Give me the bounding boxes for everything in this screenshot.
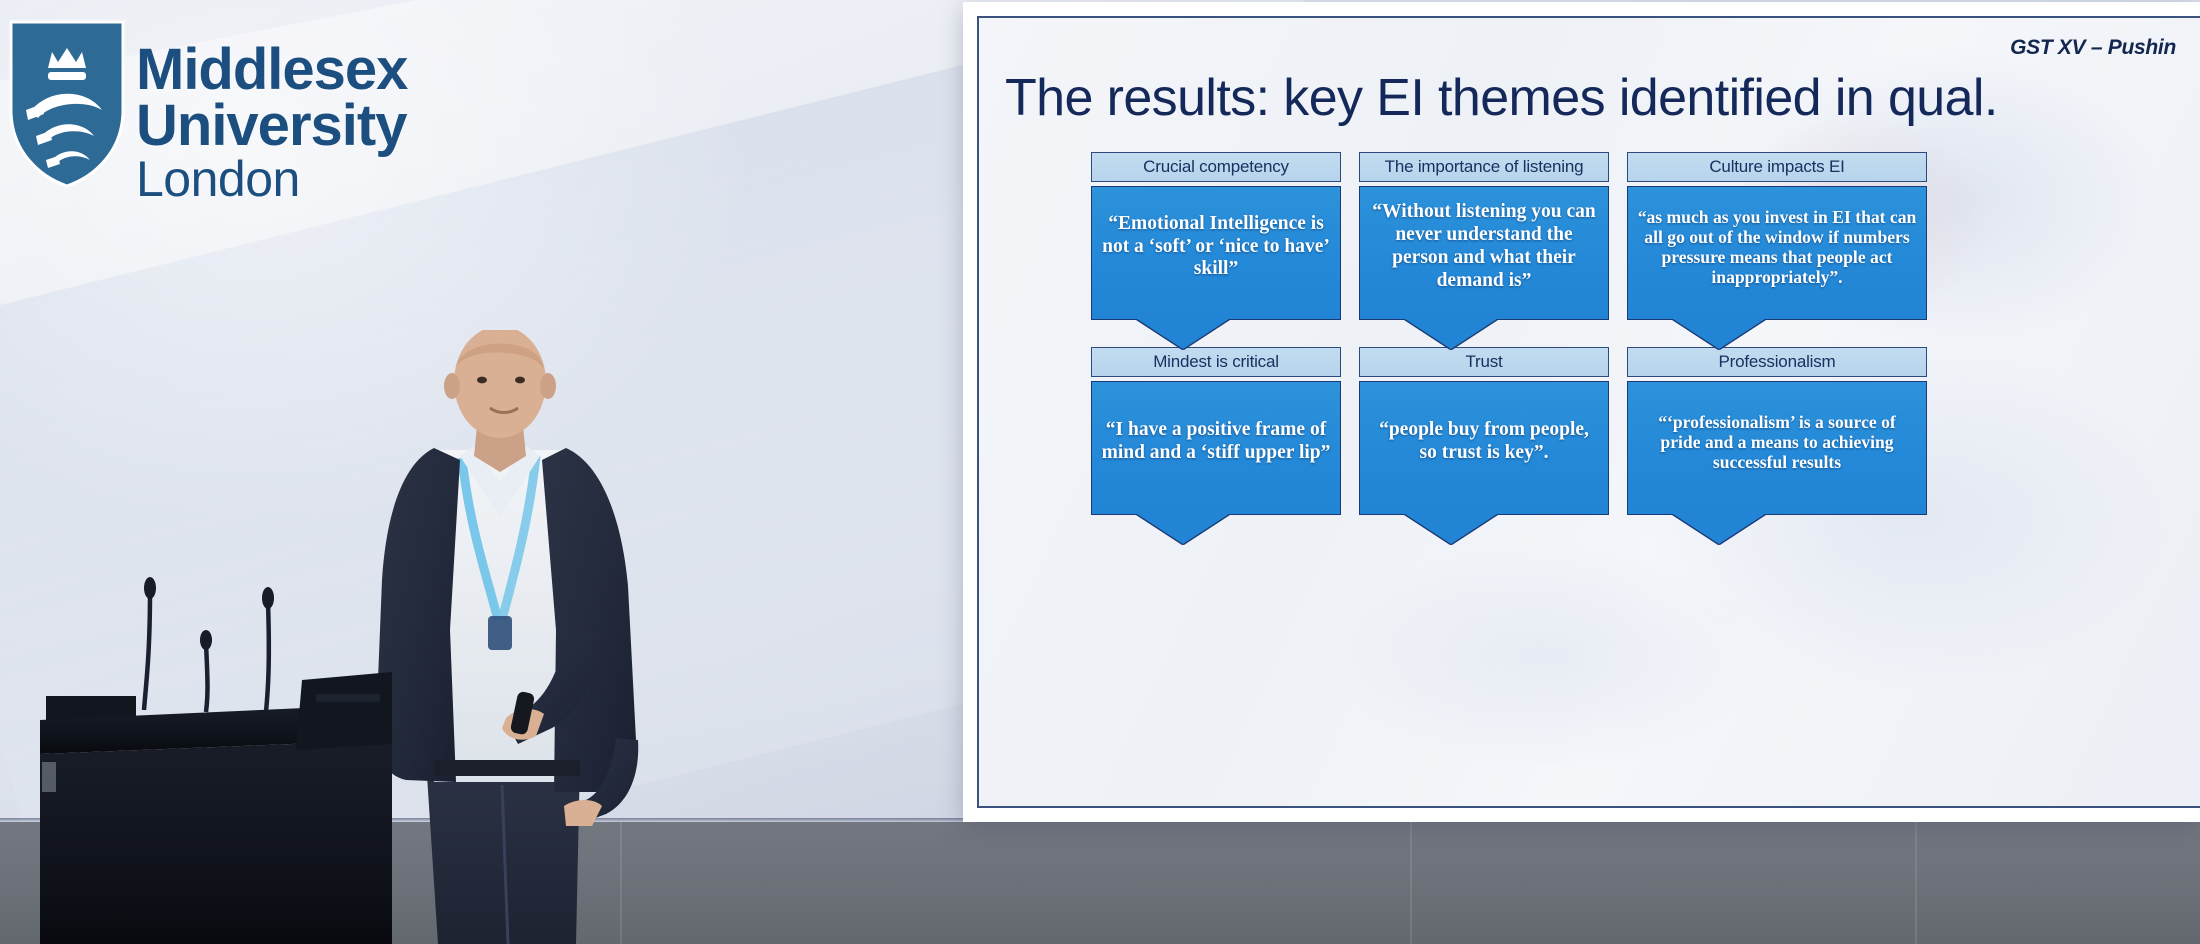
callout-tail bbox=[1673, 319, 1765, 349]
callout-heading: Crucial competency bbox=[1091, 152, 1341, 182]
callout-row-1: Crucial competency “Emotional Intelligen… bbox=[1091, 152, 2200, 320]
callout-body: “as much as you invest in EI that can al… bbox=[1627, 186, 1927, 320]
gooseneck-microphone-2 bbox=[200, 630, 212, 712]
callout-quote: “Emotional Intelligence is not a ‘soft’ … bbox=[1101, 213, 1331, 281]
presenter-hand-left bbox=[564, 800, 602, 826]
callout-tail bbox=[1405, 514, 1497, 544]
callout-quote: “as much as you invest in EI that can al… bbox=[1637, 207, 1917, 287]
callout-trust: Trust “people buy from people, so trust … bbox=[1359, 347, 1609, 515]
slide-canvas: GST XV – Pushin The results: key EI them… bbox=[977, 16, 2200, 808]
callout-quote: “‘professionalism’ is a source of pride … bbox=[1637, 412, 1917, 472]
callout-row-2: Mindest is critical “I have a positive f… bbox=[1091, 347, 2200, 515]
callout-heading: Trust bbox=[1359, 347, 1609, 377]
slide-title: The results: key EI themes identified in… bbox=[1005, 68, 1998, 128]
projection-screen: GST XV – Pushin The results: key EI them… bbox=[963, 2, 2200, 822]
logo-line-london: London bbox=[136, 155, 407, 204]
callout-body: “‘professionalism’ is a source of pride … bbox=[1627, 381, 1927, 515]
callout-tail bbox=[1137, 514, 1229, 544]
logo-wordmark: Middlesex University London bbox=[136, 42, 407, 203]
callout-tail bbox=[1405, 319, 1497, 349]
callout-quote: “Without listening you can never underst… bbox=[1369, 201, 1599, 292]
callout-heading: Professionalism bbox=[1627, 347, 1927, 377]
slide-running-header: GST XV – Pushin bbox=[2010, 36, 2176, 60]
callout-crucial-competency: Crucial competency “Emotional Intelligen… bbox=[1091, 152, 1341, 320]
callout-tail bbox=[1137, 319, 1229, 349]
callout-culture-impacts-ei: Culture impacts EI “as much as you inves… bbox=[1627, 152, 1877, 320]
callout-body: “people buy from people, so trust is key… bbox=[1359, 381, 1609, 515]
callout-tail bbox=[1673, 514, 1765, 544]
callout-heading: Culture impacts EI bbox=[1627, 152, 1927, 182]
callout-heading: Mindest is critical bbox=[1091, 347, 1341, 377]
callout-professionalism: Professionalism “‘professionalism’ is a … bbox=[1627, 347, 1877, 515]
venue-branding: Middlesex University London bbox=[8, 18, 528, 208]
callout-body: “Emotional Intelligence is not a ‘soft’ … bbox=[1091, 186, 1341, 320]
logo-line-university: University bbox=[136, 98, 407, 154]
middlesex-shield-icon bbox=[8, 18, 126, 190]
callout-mindest-is-critical: Mindest is critical “I have a positive f… bbox=[1091, 347, 1341, 515]
slide-watermark-d bbox=[1339, 546, 1759, 766]
gooseneck-microphone-3 bbox=[262, 587, 274, 712]
conference-presentation-scene: Middlesex University London bbox=[0, 0, 2200, 944]
logo-line-middlesex: Middlesex bbox=[136, 42, 407, 98]
callout-heading: The importance of listening bbox=[1359, 152, 1609, 182]
laptop-lid bbox=[296, 672, 392, 750]
callout-importance-of-listening: The importance of listening “Without lis… bbox=[1359, 152, 1609, 320]
callout-quote: “I have a positive frame of mind and a ‘… bbox=[1101, 419, 1331, 465]
gooseneck-microphone-1 bbox=[144, 577, 156, 710]
callout-body: “Without listening you can never underst… bbox=[1359, 186, 1609, 320]
podium-front bbox=[40, 740, 392, 944]
callout-quote: “people buy from people, so trust is key… bbox=[1369, 419, 1599, 465]
lectern-podium bbox=[40, 544, 500, 944]
callout-grid: Crucial competency “Emotional Intelligen… bbox=[1091, 152, 2200, 542]
callout-body: “I have a positive frame of mind and a ‘… bbox=[1091, 381, 1341, 515]
